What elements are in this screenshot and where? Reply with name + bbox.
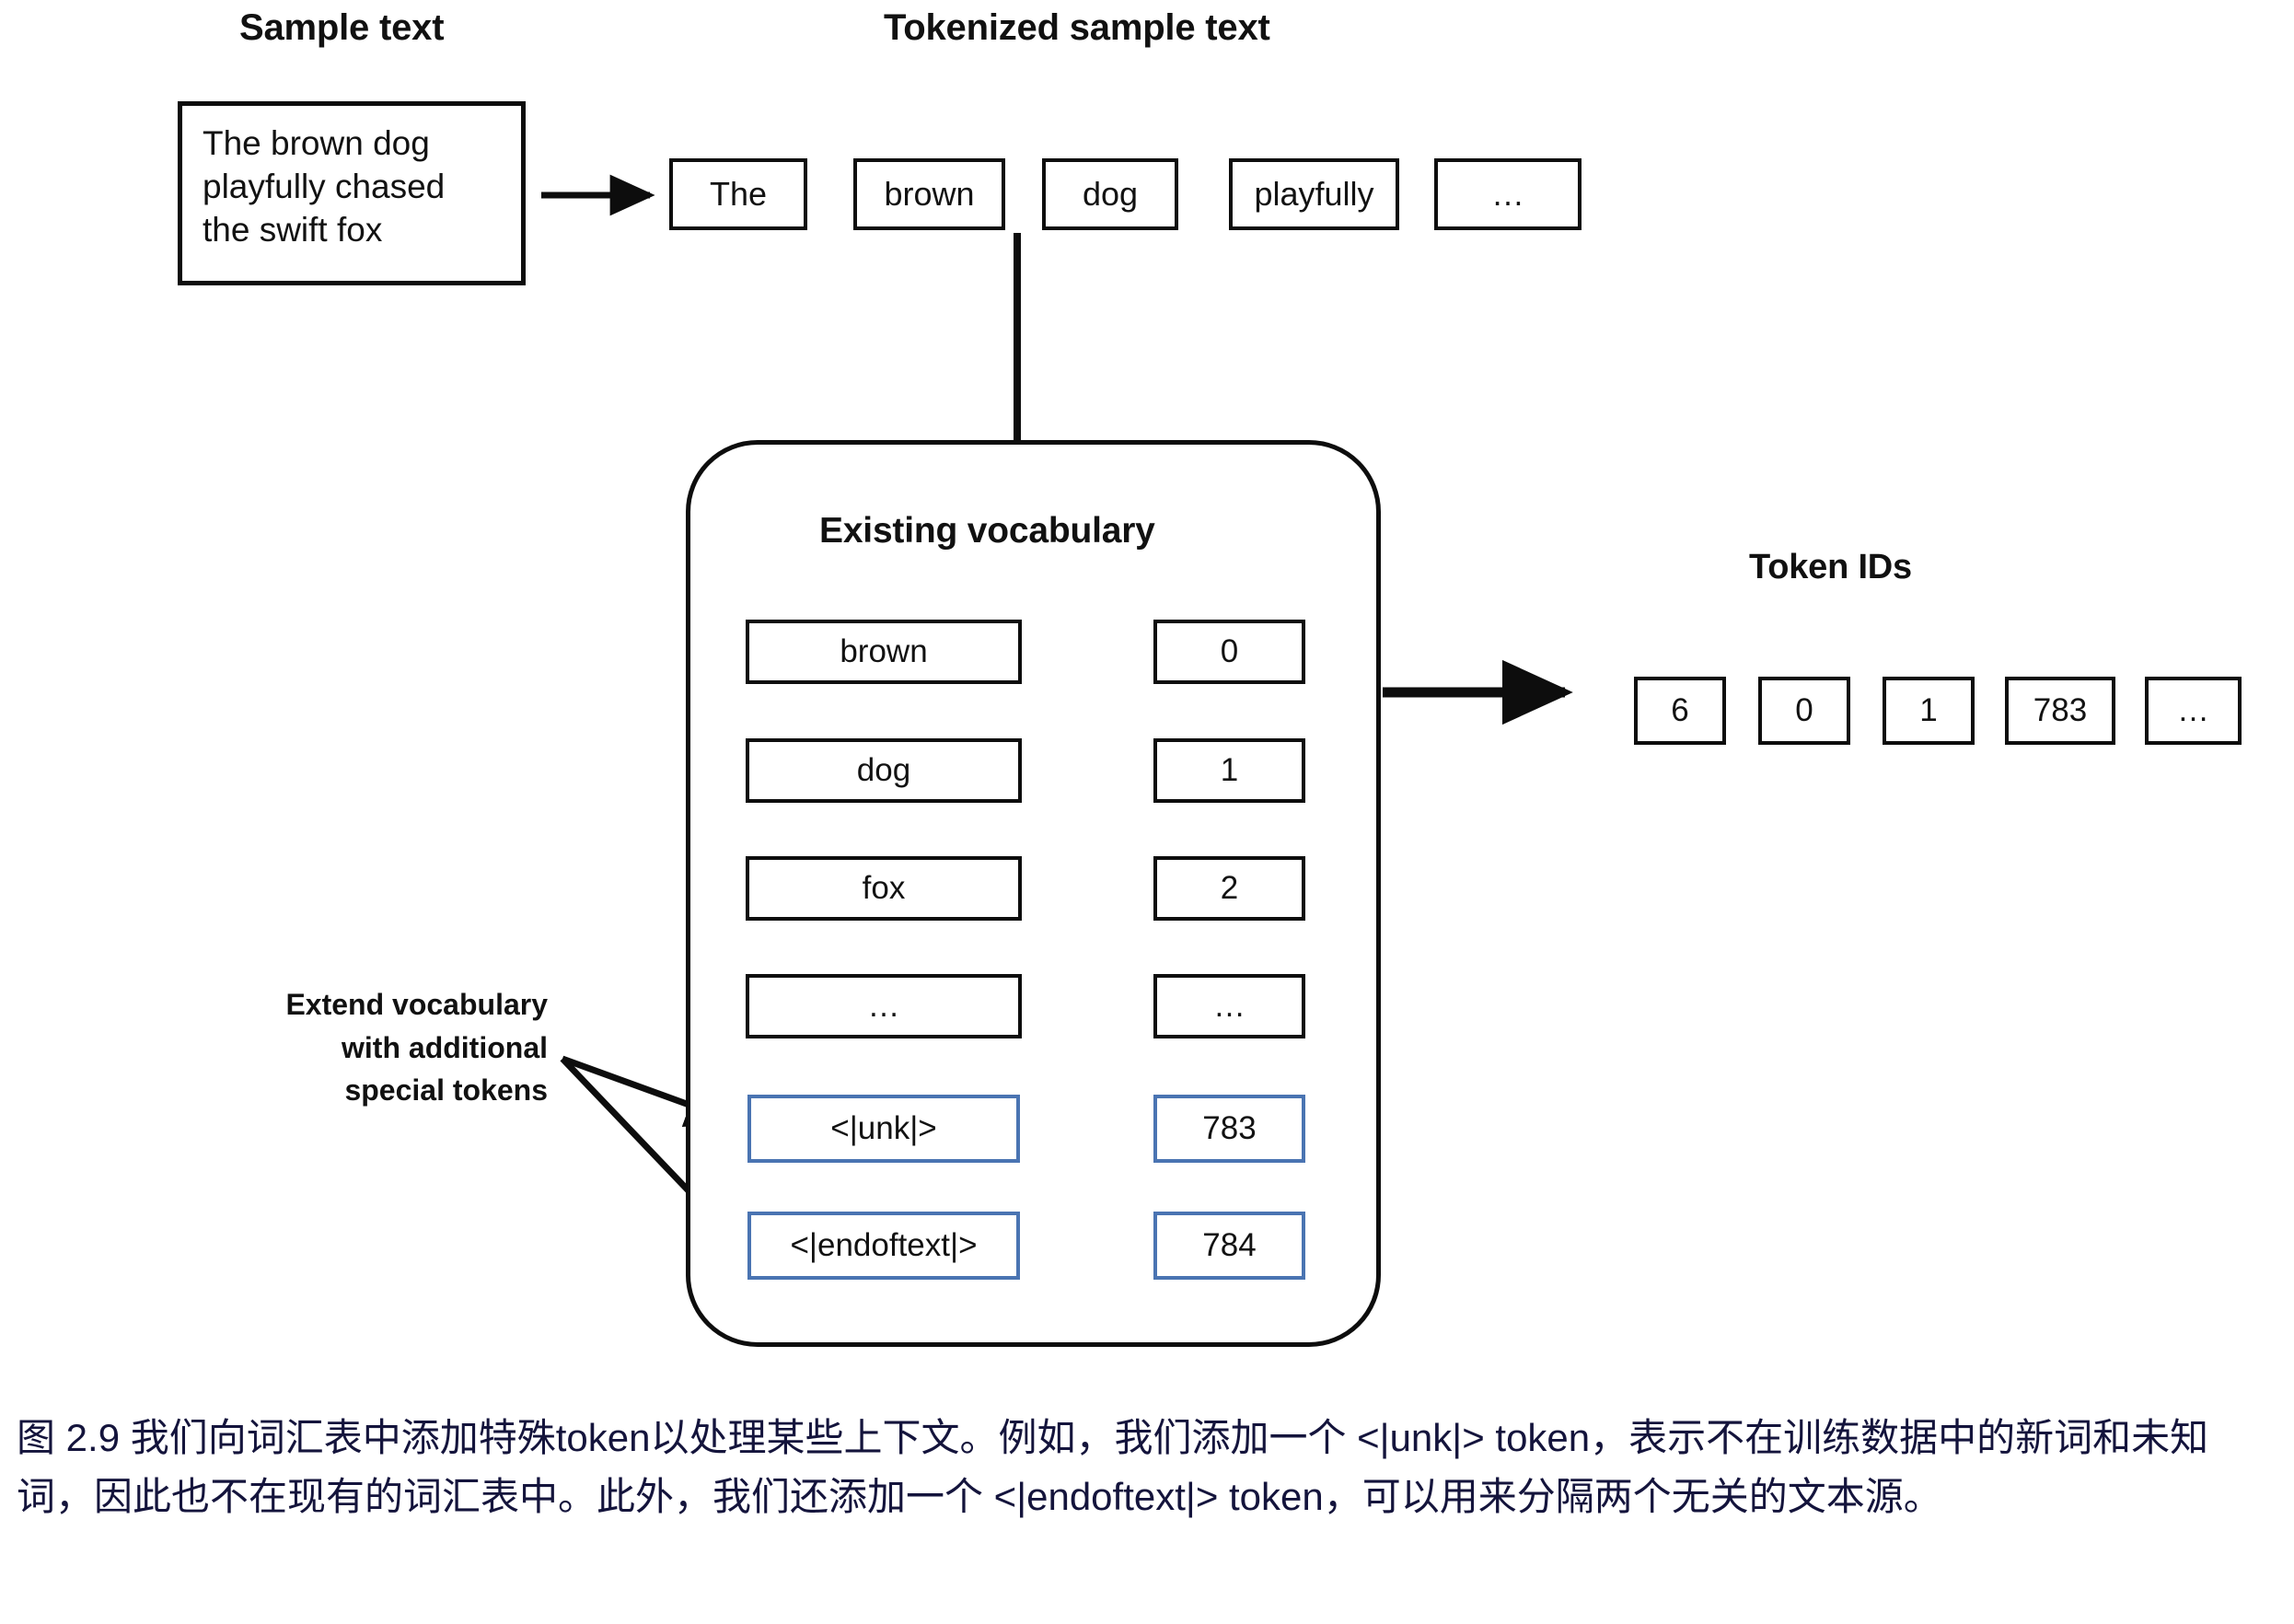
vocab-special-token-box: <|endoftext|> (747, 1212, 1020, 1280)
sample-text-box: The brown dog playfully chased the swift… (178, 101, 526, 285)
vocab-special-token-box: <|unk|> (747, 1095, 1020, 1163)
vocab-word-box: … (746, 974, 1022, 1038)
vocab-id-box: 0 (1153, 620, 1305, 684)
vocab-word-box: dog (746, 738, 1022, 803)
token-id-box: 0 (1758, 677, 1850, 745)
vocab-id-box: 1 (1153, 738, 1305, 803)
extend-vocabulary-annotation: Extend vocabulary with additional specia… (216, 983, 548, 1112)
token-box: dog (1042, 158, 1178, 230)
sample-text-line-1: The brown dog (203, 122, 503, 166)
vocab-special-id-box: 784 (1153, 1212, 1305, 1280)
figure-canvas: Sample text Tokenized sample text Token … (0, 0, 2294, 1624)
vocab-word-box: brown (746, 620, 1022, 684)
annotation-line-1: Extend vocabulary (216, 983, 548, 1027)
token-id-box: … (2145, 677, 2242, 745)
vocab-id-box: … (1153, 974, 1305, 1038)
tokenized-sample-text-heading: Tokenized sample text (884, 7, 1270, 49)
token-box: The (669, 158, 807, 230)
token-id-box: 1 (1883, 677, 1975, 745)
sample-text-heading: Sample text (239, 7, 444, 49)
token-box: playfully (1229, 158, 1399, 230)
token-box: brown (853, 158, 1005, 230)
existing-vocabulary-heading: Existing vocabulary (819, 511, 1155, 551)
token-box: … (1434, 158, 1581, 230)
vocab-special-id-box: 783 (1153, 1095, 1305, 1163)
figure-caption: 图 2.9 我们向词汇表中添加特殊token以处理某些上下文。例如，我们添加一个… (17, 1409, 2281, 1526)
annotation-line-2: with additional (216, 1027, 548, 1070)
sample-text-line-3: the swift fox (203, 209, 503, 252)
sample-text-line-2: playfully chased (203, 166, 503, 209)
vocab-word-box: fox (746, 856, 1022, 921)
token-id-box: 783 (2005, 677, 2115, 745)
token-ids-heading: Token IDs (1749, 548, 1912, 587)
token-id-box: 6 (1634, 677, 1726, 745)
annotation-line-3: special tokens (216, 1069, 548, 1112)
vocab-id-box: 2 (1153, 856, 1305, 921)
